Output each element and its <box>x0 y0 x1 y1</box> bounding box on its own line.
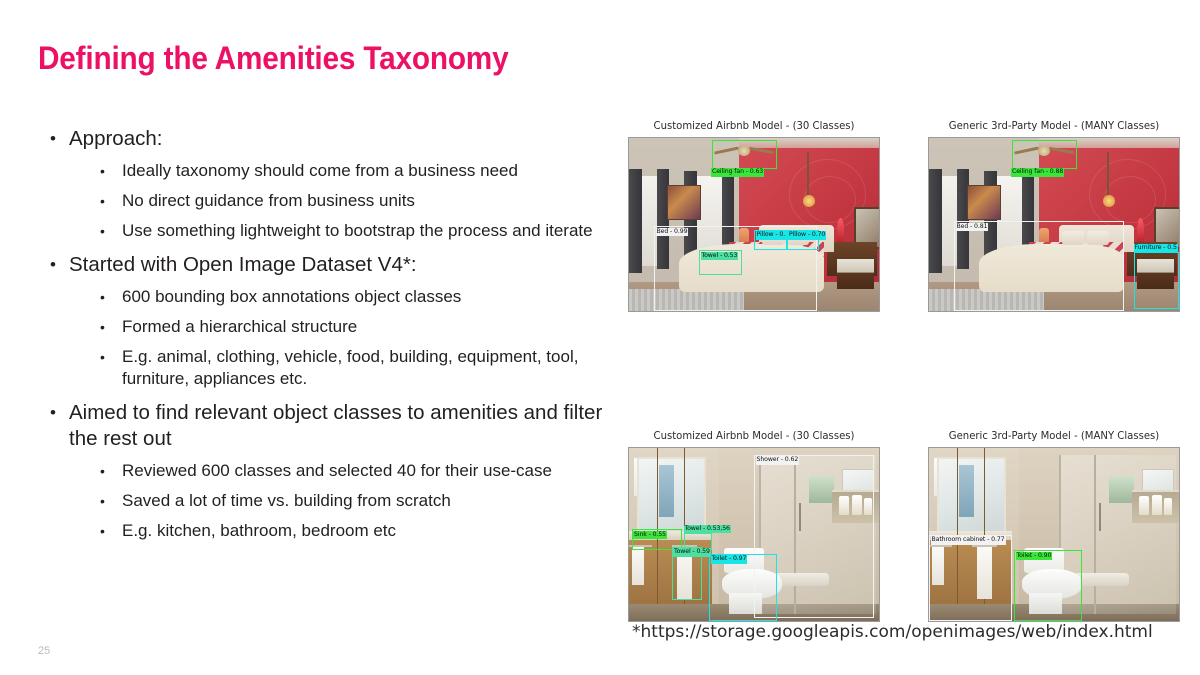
bullet-dot-icon: • <box>100 316 105 338</box>
bullet-level2-text: Formed a hierarchical structure <box>122 317 357 336</box>
footnote-url: *https://storage.googleapis.com/openimag… <box>632 622 1152 642</box>
detection-box-furniture: Furniture - 0.5 <box>1134 252 1179 309</box>
detection-label: Towel - 0.59 <box>673 548 711 557</box>
bullet-dot-icon: • <box>100 346 105 368</box>
detection-box-towel-hanging: Towel - 0.59 <box>672 547 702 601</box>
detection-label: Pillow - 0. <box>756 231 787 240</box>
figure-grid: Customized Airbnb Model - (30 Classes) <box>628 120 1188 622</box>
bullet-dot-icon: • <box>100 160 105 182</box>
detection-image-bathroom-generic: Bathroom cabinet - 0.77 Toilet - 0.90 <box>928 447 1180 622</box>
figure-bedroom-generic: Generic 3rd-Party Model - (MANY Classes) <box>928 120 1180 312</box>
detection-label: Towel - 0.53,56 <box>684 525 731 534</box>
bullet-level2: • E.g. kitchen, bathroom, bedroom etc <box>96 520 624 542</box>
detection-label: Bathroom cabinet - 0.77 <box>931 536 1006 545</box>
bullet-dot-icon: • <box>100 490 105 512</box>
bullet-level2-text: Reviewed 600 classes and selected 40 for… <box>122 461 552 480</box>
outline-group: • Aimed to find relevant object classes … <box>44 400 624 542</box>
detection-label: Ceiling fan - 0.63 <box>711 168 764 177</box>
bullet-level2: • Ideally taxonomy should come from a bu… <box>96 160 624 182</box>
detection-label: Bed - 0.99 <box>656 228 689 237</box>
bullet-level1: • Approach: <box>44 126 624 152</box>
bullet-outline: • Approach: • Ideally taxonomy should co… <box>44 126 624 552</box>
detection-label: Ceiling fan - 0.88 <box>1011 168 1064 177</box>
detection-label: Toilet - 0.97 <box>711 555 748 564</box>
figure-row-bedroom: Customized Airbnb Model - (30 Classes) <box>628 120 1188 312</box>
detection-box-bathroom-cabinet: Bathroom cabinet - 0.77 <box>929 535 1012 622</box>
bullet-dot-icon: • <box>100 286 105 308</box>
bullet-level2: • E.g. animal, clothing, vehicle, food, … <box>96 346 624 390</box>
figure-bedroom-custom: Customized Airbnb Model - (30 Classes) <box>628 120 880 312</box>
figure-caption: Generic 3rd-Party Model - (MANY Classes) <box>933 120 1175 132</box>
bullet-level2: • No direct guidance from business units <box>96 190 624 212</box>
bullet-level2: • Use something lightweight to bootstrap… <box>96 220 624 242</box>
bullet-level2: • Saved a lot of time vs. building from … <box>96 490 624 512</box>
page-title: Defining the Amenities Taxonomy <box>38 40 508 77</box>
detection-box-ceiling-fan: Ceiling fan - 0.63 <box>712 140 777 169</box>
detection-box-toilet: Toilet - 0.90 <box>1014 550 1082 621</box>
bullet-level2: • 600 bounding box annotations object cl… <box>96 286 624 308</box>
outline-group: • Approach: • Ideally taxonomy should co… <box>44 126 624 242</box>
bullet-level1-text: Aimed to find relevant object classes to… <box>69 401 602 450</box>
detection-image-bedroom-custom: Ceiling fan - 0.63 Bed - 0.99 Towel - 0.… <box>628 137 880 312</box>
detection-box-bed: Bed - 0.81 <box>954 221 1124 311</box>
bullet-level2-text: E.g. kitchen, bathroom, bedroom etc <box>122 521 396 540</box>
page-number: 25 <box>38 645 50 657</box>
detection-box-pillow-left: Pillow - 0. <box>754 230 787 251</box>
bullet-dot-icon: • <box>100 520 105 542</box>
bullet-level2-text: E.g. animal, clothing, vehicle, food, bu… <box>122 347 578 388</box>
detection-box-towel: Towel - 0.53 <box>699 250 742 274</box>
bullet-level2-text: Ideally taxonomy should come from a busi… <box>122 161 518 180</box>
detection-box-ceiling-fan: Ceiling fan - 0.88 <box>1012 140 1077 169</box>
detection-image-bedroom-generic: Ceiling fan - 0.88 Bed - 0.81 Furniture … <box>928 137 1180 312</box>
outline-group: • Started with Open Image Dataset V4*: •… <box>44 252 624 390</box>
detection-label: Shower - 0.62 <box>756 456 800 465</box>
detection-label: Toilet - 0.90 <box>1016 552 1053 561</box>
figure-bathroom-generic: Generic 3rd-Party Model - (MANY Classes) <box>928 430 1180 622</box>
bullet-level1: • Started with Open Image Dataset V4*: <box>44 252 624 278</box>
bullet-level2-text: Use something lightweight to bootstrap t… <box>122 221 593 240</box>
figure-caption: Customized Airbnb Model - (30 Classes) <box>633 430 875 442</box>
bullet-level2-text: Saved a lot of time vs. building from sc… <box>122 491 451 510</box>
detection-label: Furniture - 0.5 <box>1134 244 1178 253</box>
bullet-level2: • Formed a hierarchical structure <box>96 316 624 338</box>
bullet-dot-icon: • <box>50 126 56 152</box>
figure-caption: Generic 3rd-Party Model - (MANY Classes) <box>933 430 1175 442</box>
detection-box-pillow-right: Pillow - 0.70 <box>787 230 820 251</box>
bullet-level1-text: Started with Open Image Dataset V4*: <box>69 253 417 276</box>
bullet-level2-text: 600 bounding box annotations object clas… <box>122 287 461 306</box>
detection-label: Sink - 0.55 <box>633 531 667 540</box>
bullet-level2: • Reviewed 600 classes and selected 40 f… <box>96 460 624 482</box>
detection-label: Bed - 0.81 <box>956 223 989 232</box>
detection-label: Towel - 0.53 <box>701 252 739 261</box>
bullet-dot-icon: • <box>50 252 56 278</box>
bullet-level2-text: No direct guidance from business units <box>122 191 415 210</box>
slide: Defining the Amenities Taxonomy • Approa… <box>0 0 1200 675</box>
figure-caption: Customized Airbnb Model - (30 Classes) <box>633 120 875 132</box>
bullet-dot-icon: • <box>50 400 56 426</box>
detection-label: Pillow - 0.70 <box>788 231 826 240</box>
bullet-dot-icon: • <box>100 460 105 482</box>
bullet-dot-icon: • <box>100 220 105 242</box>
figure-row-bathroom: Customized Airbnb Model - (30 Classes) <box>628 430 1188 622</box>
bullet-level1-text: Approach: <box>69 127 162 150</box>
figure-bathroom-custom: Customized Airbnb Model - (30 Classes) <box>628 430 880 622</box>
detection-box-toilet: Toilet - 0.97 <box>709 554 777 621</box>
bullet-level1: • Aimed to find relevant object classes … <box>44 400 624 452</box>
detection-image-bathroom-custom: Shower - 0.62 Sink - 0.55 Towel - 0.53,5… <box>628 447 880 622</box>
bullet-dot-icon: • <box>100 190 105 212</box>
